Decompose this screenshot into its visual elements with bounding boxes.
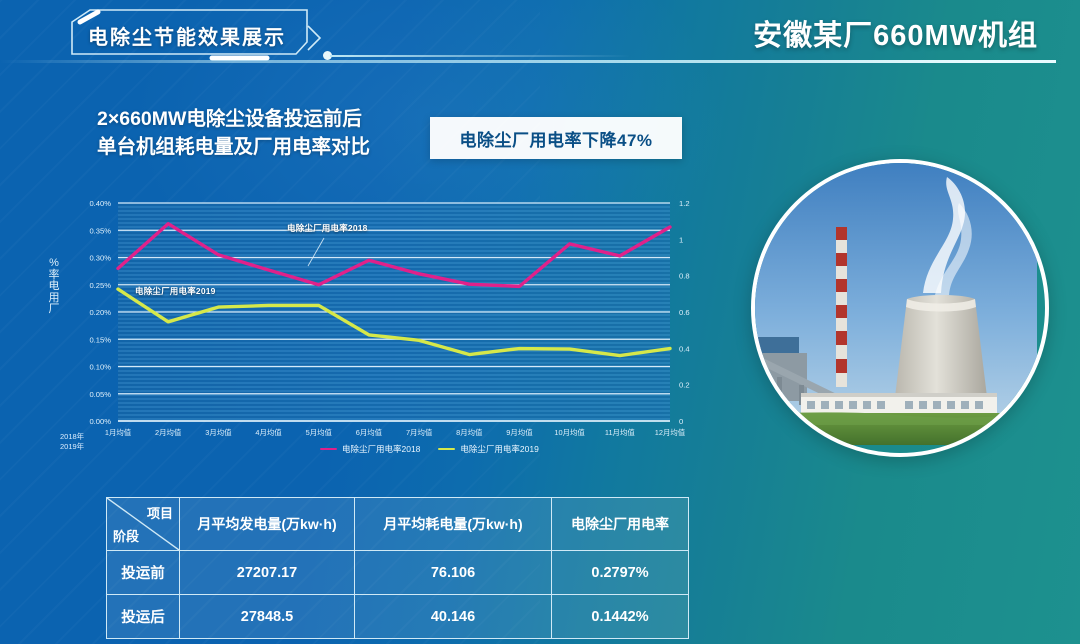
svg-text:9月均值: 9月均值: [506, 428, 533, 437]
svg-text:4月均值: 4月均值: [255, 428, 282, 437]
table-header-rate: 电除尘厂用电率: [552, 498, 689, 551]
badge-label: 电除尘节能效果展示: [88, 21, 286, 50]
corner-label-bottom: 阶段: [113, 526, 139, 545]
cell-before-generation: 27207.17: [180, 551, 355, 595]
chart-canvas: 0.00%0.05%0.10%0.15%0.20%0.25%0.30%0.35%…: [58, 186, 708, 466]
subtitle-line-1: 2×660MW电除尘设备投运前后: [97, 105, 370, 133]
y-axis-title-pct: %: [46, 258, 62, 270]
comparison-table: 项目 阶段 月平均发电量(万kw·h) 月平均耗电量(万kw·h) 电除尘厂用电…: [106, 497, 689, 639]
slide-canvas: 电除尘节能效果展示 安徽某厂660MW机组 2×660MW电除尘设备投运前后 单…: [0, 0, 1080, 644]
svg-text:0.4: 0.4: [679, 344, 690, 353]
line-chart: 0.00%0.05%0.10%0.15%0.20%0.25%0.30%0.35%…: [58, 186, 708, 466]
svg-text:8月均值: 8月均值: [456, 428, 483, 437]
cell-before-rate: 0.2797%: [552, 551, 689, 595]
svg-text:0.35%: 0.35%: [89, 226, 111, 235]
svg-text:3月均值: 3月均值: [205, 428, 232, 437]
svg-text:11月均值: 11月均值: [605, 428, 635, 437]
plant-buildings: [801, 393, 997, 415]
svg-text:7月均值: 7月均值: [406, 428, 433, 437]
table-header-row: 项目 阶段 月平均发电量(万kw·h) 月平均耗电量(万kw·h) 电除尘厂用电…: [107, 498, 689, 551]
power-plant-photo: [751, 159, 1049, 457]
legend-swatch-2019: [438, 448, 455, 451]
badge-accent-line: [330, 55, 630, 57]
svg-text:0.10%: 0.10%: [89, 363, 111, 372]
cell-after-generation: 27848.5: [180, 595, 355, 639]
header-badge: 电除尘节能效果展示: [62, 8, 332, 62]
page-title: 安徽某厂660MW机组: [753, 12, 1038, 54]
y-axis-title-c4: 厂: [46, 304, 62, 316]
svg-text:0.2: 0.2: [679, 381, 690, 390]
legend-item-2019: 电除尘厂用电率2019: [438, 443, 538, 455]
svg-text:0.20%: 0.20%: [89, 308, 111, 317]
table-corner-cell: 项目 阶段: [107, 498, 180, 551]
svg-text:0.8: 0.8: [679, 272, 690, 281]
cell-after-rate: 0.1442%: [552, 595, 689, 639]
corner-year-2019: 2019年: [60, 442, 84, 452]
svg-text:1: 1: [679, 235, 683, 244]
svg-text:0.05%: 0.05%: [89, 390, 111, 399]
chimney: [836, 227, 847, 387]
svg-text:12月均值: 12月均值: [655, 428, 686, 437]
svg-text:0.30%: 0.30%: [89, 254, 111, 263]
row-label-before: 投运前: [107, 551, 180, 595]
legend-label-2018: 电除尘厂用电率2018: [342, 443, 420, 455]
annotation-series-2019: 电除尘厂用电率2019: [135, 285, 216, 297]
kpi-callout: 电除尘厂用电率下降47%: [430, 117, 682, 159]
legend-label-2019: 电除尘厂用电率2019: [460, 443, 538, 455]
table-row: 投运前 27207.17 76.106 0.2797%: [107, 551, 689, 595]
svg-text:10月均值: 10月均值: [554, 428, 585, 437]
header-divider: [0, 60, 1056, 63]
svg-text:1月均值: 1月均值: [105, 428, 132, 437]
corner-year-2018: 2018年: [60, 432, 84, 442]
svg-text:0.25%: 0.25%: [89, 281, 111, 290]
y-axis-title: % 率 电 用 厂: [46, 258, 62, 316]
y-axis-title-c2: 电: [46, 281, 62, 293]
power-plant-illustration: [755, 163, 1037, 445]
x-axis-corner-label: 2018年 2019年: [60, 432, 84, 451]
svg-text:6月均值: 6月均值: [356, 428, 383, 437]
svg-text:0: 0: [679, 417, 683, 426]
svg-text:0.6: 0.6: [679, 308, 690, 317]
legend-item-2018: 电除尘厂用电率2018: [320, 443, 420, 455]
subtitle-line-2: 单台机组耗电量及厂用电率对比: [97, 133, 370, 161]
cell-after-consumption: 40.146: [355, 595, 552, 639]
svg-text:0.40%: 0.40%: [89, 199, 111, 208]
table-row: 投运后 27848.5 40.146 0.1442%: [107, 595, 689, 639]
annotation-series-2018: 电除尘厂用电率2018: [287, 222, 368, 234]
legend-swatch-2018: [320, 448, 337, 451]
svg-text:0.00%: 0.00%: [89, 417, 111, 426]
chart-legend: 电除尘厂用电率2018 电除尘厂用电率2019: [320, 443, 539, 455]
subtitle-block: 2×660MW电除尘设备投运前后 单台机组耗电量及厂用电率对比: [97, 105, 370, 162]
corner-label-top: 项目: [147, 503, 173, 522]
cell-before-consumption: 76.106: [355, 551, 552, 595]
svg-text:2月均值: 2月均值: [155, 428, 182, 437]
row-label-after: 投运后: [107, 595, 180, 639]
svg-text:0.15%: 0.15%: [89, 335, 111, 344]
svg-text:5月均值: 5月均值: [306, 428, 333, 437]
table-header-generation: 月平均发电量(万kw·h): [180, 498, 355, 551]
kpi-label: 电除尘厂用电率下降47%: [459, 126, 652, 151]
table-header-consumption: 月平均耗电量(万kw·h): [355, 498, 552, 551]
svg-text:1.2: 1.2: [679, 199, 690, 208]
